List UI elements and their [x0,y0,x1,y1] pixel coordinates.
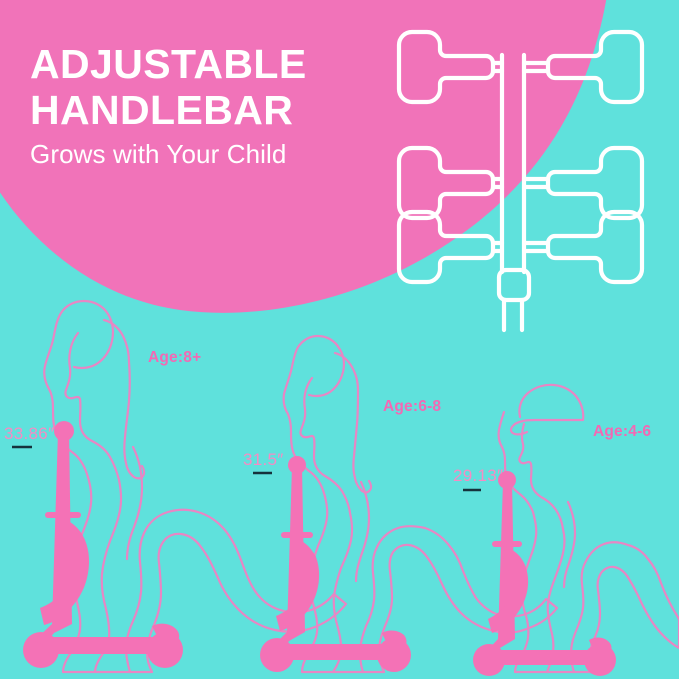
headline-line-2: HANDLEBAR [30,90,410,130]
headline-line-1: ADJUSTABLE [30,44,410,84]
scooter-large-tbar [45,512,81,518]
rider-large-scooter [23,421,183,668]
scooter-small-tbar [492,541,522,547]
age-label-large: Age:8+ [148,349,201,367]
scooter-large-handle-knob [54,421,74,441]
headline-block: ADJUSTABLE HANDLEBAR Grows with Your Chi… [30,44,410,169]
scooter-medium-tbar [281,532,313,538]
scooter-medium-handle-knob [288,456,306,474]
rider-medium-leg-outline [356,482,369,581]
product-infographic: ADJUSTABLE HANDLEBAR Grows with Your Chi… [0,0,679,679]
rider-small-leg-outline [564,502,575,587]
headline-subtitle: Grows with Your Child [30,139,410,169]
height-label-small: 29.13″ [453,466,503,486]
height-label-medium: 31.5″ [243,450,284,470]
rider-small-cap-outline [511,385,583,435]
rider-small-body-outline [499,412,679,672]
rider-large-leg-outline [127,447,142,559]
height-label-large: 33.86″ [4,424,54,444]
rider-medium-scooter [260,456,411,672]
rider-large-ponytail-outline [104,320,144,478]
rider-small-scooter [473,471,616,676]
rider-medium-ponytail-outline [335,353,371,492]
age-label-small: Age:4-6 [593,423,651,441]
age-label-medium: Age:6-8 [383,398,441,416]
